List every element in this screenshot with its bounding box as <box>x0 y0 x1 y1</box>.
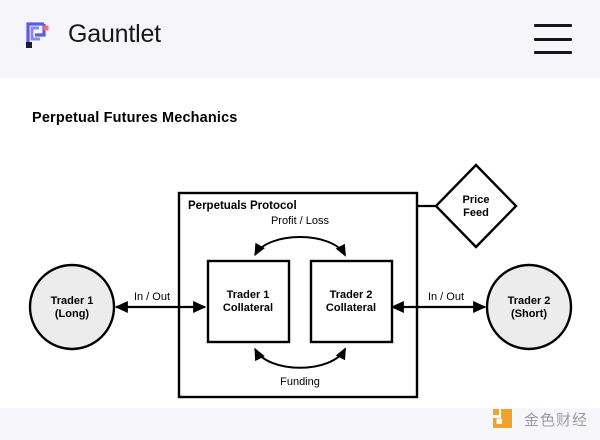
brand[interactable]: Gauntlet <box>20 17 161 51</box>
trader-1-collateral-node: Trader 1 Collateral <box>208 261 289 342</box>
collateral-2-label-line2: Collateral <box>326 302 376 314</box>
trader-2-label-line2: (Short) <box>511 308 547 320</box>
price-feed-label-line2: Feed <box>463 207 489 219</box>
content-card: Perpetual Futures Mechanics Price Feed P… <box>0 78 600 408</box>
trader-1-node: Trader 1 (Long) <box>30 265 114 349</box>
hamburger-menu-icon[interactable] <box>534 24 572 54</box>
brand-title: Gauntlet <box>68 22 161 47</box>
jinse-finance-logo-icon <box>490 406 516 432</box>
in-out-left-label: In / Out <box>134 291 170 303</box>
in-out-right-label: In / Out <box>428 291 464 303</box>
collateral-1-label-line1: Trader 1 <box>227 289 270 301</box>
perpetual-futures-diagram: Price Feed Perpetuals Protocol Trader 1 … <box>0 78 600 408</box>
watermark-text: 金色财经 <box>524 409 588 430</box>
price-feed-node: Price Feed <box>436 165 516 247</box>
collateral-2-label-line1: Trader 2 <box>330 289 373 301</box>
app-header: Gauntlet <box>0 0 600 78</box>
collateral-1-label-line2: Collateral <box>223 302 273 314</box>
trader-1-label-line2: (Long) <box>55 308 90 320</box>
trader-2-node: Trader 2 (Short) <box>487 265 571 349</box>
menu-line-3 <box>534 51 572 54</box>
menu-line-1 <box>534 24 572 27</box>
price-feed-label-line1: Price <box>463 194 490 206</box>
funding-label: Funding <box>280 376 320 388</box>
gauntlet-g-logo-icon <box>20 17 54 51</box>
watermark: 金色财经 <box>490 406 588 432</box>
profit-loss-label: Profit / Loss <box>271 215 330 227</box>
perpetuals-protocol-label: Perpetuals Protocol <box>188 200 297 212</box>
trader-2-label-line1: Trader 2 <box>508 295 551 307</box>
trader-2-collateral-node: Trader 2 Collateral <box>311 261 392 342</box>
menu-line-2 <box>534 38 572 41</box>
trader-1-label-line1: Trader 1 <box>51 295 94 307</box>
